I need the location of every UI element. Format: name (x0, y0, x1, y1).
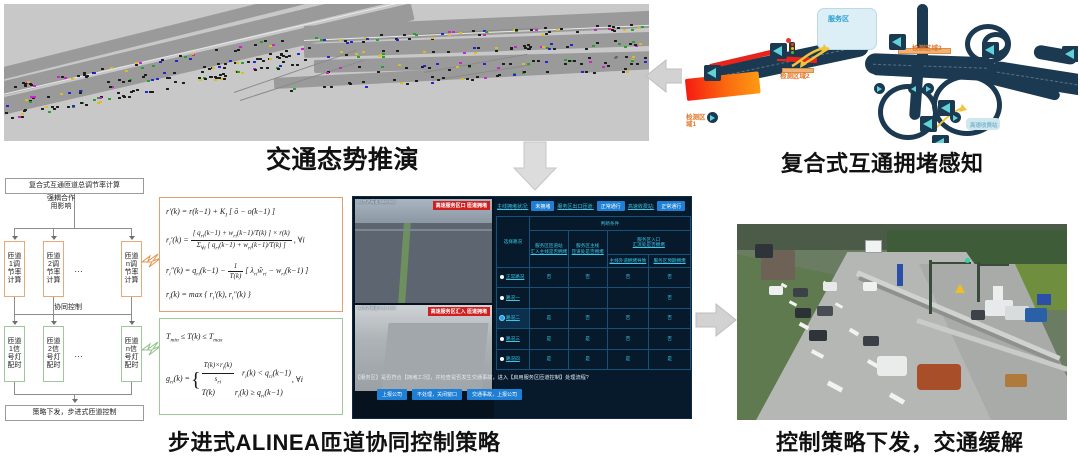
flow-footer-box: 策略下发，步进式匝道控制 (5, 405, 144, 421)
simulated-vehicle (624, 68, 627, 70)
simulated-vehicle (296, 64, 299, 66)
simulated-vehicle (260, 41, 263, 43)
simulated-vehicle (614, 40, 617, 42)
simulated-vehicle (11, 117, 14, 119)
flow-signal-box-1: 匝道1信号灯配时 (4, 326, 25, 382)
simulated-vehicle (266, 67, 269, 69)
simulated-vehicle (159, 61, 162, 63)
simulated-vehicle (5, 112, 8, 114)
simulated-vehicle (281, 40, 284, 42)
simulated-vehicle (280, 54, 283, 56)
simulated-vehicle (210, 76, 213, 78)
simulated-vehicle (626, 71, 629, 73)
simulated-vehicle (382, 53, 385, 55)
simulated-vehicle (128, 96, 131, 98)
simulated-vehicle (128, 80, 131, 82)
simulated-vehicle (548, 31, 551, 33)
simulated-vehicle (278, 57, 281, 59)
simulated-vehicle (33, 85, 36, 87)
simulated-vehicle (139, 62, 142, 64)
simulated-vehicle (622, 71, 625, 73)
table-col2-header: 服务区主线 匝道处是否拥堵 (568, 231, 607, 268)
simulated-vehicle (241, 72, 244, 74)
arrow-to-photo (694, 300, 738, 340)
traffic-signal-icon[interactable] (789, 42, 795, 55)
simulated-vehicle (398, 64, 401, 66)
simulated-vehicle (215, 77, 218, 79)
simulated-vehicle (415, 80, 418, 82)
simulated-vehicle (607, 65, 610, 67)
simulated-vehicle (47, 96, 50, 98)
simulated-vehicle (497, 67, 500, 69)
simulated-vehicle (117, 92, 120, 94)
cell-2-1: 否 (568, 308, 607, 328)
row-label-cell-1[interactable]: 路况一 (497, 288, 530, 308)
simulated-vehicle (436, 63, 439, 65)
simulated-vehicle (290, 90, 293, 92)
camera-icon-7[interactable] (920, 116, 937, 132)
simulated-vehicle (602, 66, 605, 68)
alinea-formula-box: r′(k) = r(k−1) + KI [ ō − o(k−1) ] ri′(k… (159, 197, 343, 312)
row-radio-0[interactable] (500, 275, 504, 279)
simulated-vehicle (514, 46, 517, 48)
simulated-vehicle (623, 29, 626, 31)
simulated-vehicle (382, 50, 385, 52)
simulated-vehicle (617, 27, 620, 29)
cell-4-2: 是 (607, 349, 649, 370)
simulated-vehicle (376, 39, 379, 41)
simulated-vehicle (631, 60, 634, 62)
simulated-vehicle (51, 106, 54, 108)
camera-column: G2京沪高速 K88+500 高速服务区口 匝道拥堵 G2京沪高速 K91+20… (353, 197, 494, 419)
row-radio-2[interactable] (500, 316, 504, 320)
simulated-vehicle (56, 106, 59, 108)
simulated-vehicle (634, 44, 637, 46)
status-value-2[interactable]: 正常通行 (657, 201, 685, 211)
simulated-vehicle (608, 28, 611, 30)
simulated-vehicle (264, 40, 267, 42)
simulated-vehicle (123, 96, 126, 98)
simulated-vehicle (339, 67, 342, 69)
simulated-vehicle (592, 45, 595, 47)
simulated-vehicle (537, 60, 540, 62)
simulated-vehicle (478, 34, 481, 36)
condition-table: 选择路况 判断条件 服务区匝道站 汇入主线是否拥堵 服务区主线 匝道处是否拥堵 … (496, 216, 691, 370)
simulated-vehicle (377, 71, 380, 73)
simulated-vehicle (403, 34, 406, 36)
simulated-vehicle (282, 61, 285, 63)
simulated-vehicle (80, 102, 83, 104)
simulated-vehicle (85, 76, 88, 78)
simulated-vehicle (528, 48, 531, 50)
simulated-vehicle (83, 74, 86, 76)
simulated-vehicle (293, 88, 296, 90)
green-time-formula-box: Tmin ≤ T(k) ≤ Tmax gri(k) = { T(k)×ri(k)… (159, 318, 343, 415)
status-label-1: 服务区出口匝道: (557, 203, 593, 210)
simulated-vehicle (366, 38, 369, 40)
table-subcol-b: 服务区预期拥堵 (649, 254, 691, 267)
simulated-vehicle (624, 46, 627, 48)
simulated-vehicle (214, 79, 217, 81)
flow-label-coupling: 强耦合作用影响 (47, 195, 75, 211)
simulated-vehicle (48, 111, 51, 113)
cell-0-0: 否 (529, 267, 568, 287)
simulated-vehicle (166, 88, 169, 90)
simulated-vehicle (483, 63, 486, 65)
cell-2-2: 否 (607, 308, 649, 328)
simulated-vehicle (29, 101, 32, 103)
simulated-vehicle (513, 74, 516, 76)
simulated-vehicle (556, 29, 559, 31)
simulated-vehicle (97, 102, 100, 104)
simulated-vehicle (474, 52, 477, 54)
camera-icon-5[interactable] (1062, 46, 1078, 62)
simulated-vehicle (241, 62, 244, 64)
flow-signal-box-2: 匝道2信号灯配时 (43, 326, 64, 382)
simulated-vehicle (101, 68, 104, 70)
simulated-vehicle (564, 63, 567, 65)
signal-lamp-red (786, 38, 791, 43)
direction-dot-1[interactable] (707, 112, 718, 123)
simulated-vehicle (545, 33, 548, 35)
simulated-vehicle (272, 44, 275, 46)
simulated-vehicle (546, 71, 549, 73)
simulated-vehicle (149, 91, 152, 93)
cell-4-0: 是 (529, 349, 568, 370)
simulated-vehicle (14, 86, 17, 88)
simulated-vehicle (254, 69, 257, 71)
simulated-vehicle (67, 106, 70, 108)
simulated-vehicle (21, 116, 24, 118)
row-label-cell-2[interactable]: 路况二 (497, 308, 530, 328)
simulated-vehicle (182, 82, 185, 84)
simulated-vehicle (629, 43, 632, 45)
formula-constraint: Tmin ≤ T(k) ≤ Tmax (166, 332, 336, 344)
congestion-band (685, 71, 761, 101)
simulated-vehicle (448, 31, 451, 33)
simulated-vehicle (541, 34, 544, 36)
simulated-vehicle (585, 71, 588, 73)
simulated-vehicle (362, 41, 365, 43)
simulated-vehicle (256, 58, 259, 60)
formula-eq-2: ri′(k) = [ qri(k−1) + wri(k−1)/T(k) ] × … (166, 229, 336, 253)
camera-icon-4[interactable] (982, 42, 999, 58)
simulated-vehicle (24, 85, 27, 87)
simulated-vehicle (237, 49, 240, 51)
simulated-vehicle (191, 53, 194, 55)
service-area-label: 服务区 (828, 14, 849, 24)
status-label-0: 主线拥堵状况: (497, 203, 528, 210)
simulated-vehicle (447, 51, 450, 53)
simulated-vehicle (132, 90, 135, 92)
simulated-vehicle (594, 29, 597, 31)
simulated-vehicle (382, 56, 385, 58)
simulated-vehicle (471, 79, 474, 81)
simulated-vehicle (461, 78, 464, 80)
simulated-vehicle (156, 78, 159, 80)
caption-top-left: 交通态势推演 (266, 140, 419, 176)
simulated-vehicle (152, 65, 155, 67)
simulated-vehicle (393, 79, 396, 81)
simulated-vehicle (573, 60, 576, 62)
decision-prompt: 【服务区】是否符合【拥堵工况】，并检查是否发生交通事故，进入【启用服务区匝道控制… (355, 375, 691, 382)
camera-feed-1[interactable]: G2京沪高速 K88+500 高速服务区口 匝道拥堵 (355, 199, 492, 303)
simulated-vehicle (85, 104, 88, 106)
arrow-down-to-dashboard (512, 140, 558, 192)
simulated-vehicle (29, 83, 32, 85)
table-col0-header: 选择路况 (497, 217, 530, 268)
table-row[interactable]: 正常路况 否 否 否 否 (497, 267, 691, 287)
simulated-vehicle (173, 72, 176, 74)
formula-eq-4: ri(k) = max { ri′(k), ri″(k) } (166, 290, 336, 302)
dismiss-button[interactable]: 不处理，关闭窗口 (412, 389, 462, 400)
simulated-vehicle (199, 79, 202, 81)
simulated-vehicle (548, 48, 551, 50)
simulated-vehicle (291, 64, 294, 66)
table-group-header: 判断条件 (529, 217, 690, 231)
camera-stamp-2: G2京沪高速 K91+200 (357, 306, 396, 311)
simulated-vehicle (576, 31, 579, 33)
simulated-vehicle (641, 26, 644, 28)
simulated-vehicle (24, 83, 27, 85)
formula-eq-3: ri″(k) = qri(k−1) − 1T(k) [ λriŵri − wri… (166, 262, 336, 281)
simulated-vehicle (527, 63, 530, 65)
simulated-vehicle (532, 60, 535, 62)
accident-report-button[interactable]: 交通事故，上报公司 (467, 389, 522, 400)
status-bar: 主线拥堵状况: 未拥堵 服务区出口匝道: 正常通行 高速收费站: 正常通行 (494, 197, 692, 215)
cell-2-3: 否 (649, 308, 691, 328)
simulated-vehicle (441, 33, 444, 35)
simulated-vehicle (145, 91, 148, 93)
row-label-cell-3[interactable]: 路况三 (497, 329, 530, 349)
simulated-vehicle (135, 64, 138, 66)
cell-1-3: 否 (649, 288, 691, 308)
formula-eq-1: r′(k) = r(k−1) + KI [ ō − o(k−1) ] (166, 207, 336, 219)
flow-rate-ellipsis: … (74, 264, 83, 274)
table-row[interactable]: 路况一 否 (497, 288, 691, 308)
formula-piecewise: gri(k) = { T(k)×ri(k)sri ri(k) < qri(k−1… (166, 360, 336, 402)
simulated-vehicle (483, 34, 486, 36)
simulated-vehicle (269, 53, 272, 55)
direction-dot-3[interactable] (908, 83, 919, 94)
simulated-vehicle (212, 67, 215, 69)
simulated-vehicle (323, 86, 326, 88)
simulated-vehicle (223, 67, 226, 69)
simulated-vehicle (60, 93, 63, 95)
simulated-vehicle (448, 69, 451, 71)
camera-icon-2[interactable] (770, 43, 787, 59)
camera-banner-1: 高速服务区口 匝道拥堵 (433, 201, 490, 210)
simulated-vehicle (224, 63, 227, 65)
cell-3-2: 否 (607, 329, 649, 349)
simulated-vehicle (405, 67, 408, 69)
simulated-vehicle (277, 68, 280, 70)
simulated-vehicle (355, 53, 358, 55)
simulated-vehicle (459, 32, 462, 34)
flow-bus-top (14, 228, 132, 229)
flow-rate-box-n: 匝道n调节率计算 (121, 241, 142, 297)
flow-root-box: 复合式互通匝道总调节率计算 (5, 178, 144, 194)
simulated-vehicle (79, 92, 82, 94)
simulated-vehicle (456, 66, 459, 68)
simulated-vehicle (254, 44, 257, 46)
row-radio-3[interactable] (500, 337, 504, 341)
cell-2-0: 是 (529, 308, 568, 328)
simulated-vehicle (219, 74, 222, 76)
cell-3-1: 是 (568, 329, 607, 349)
simulated-vehicle (122, 81, 125, 83)
camera-icon-1[interactable] (704, 65, 721, 81)
simulated-vehicle (99, 97, 102, 99)
simulated-vehicle (378, 55, 381, 57)
flow-signal-ellipsis: … (74, 349, 83, 359)
simulated-vehicle (357, 56, 360, 58)
simulated-vehicle (93, 72, 96, 74)
simulated-vehicle (348, 82, 351, 84)
decision-support-dashboard[interactable]: G2京沪高速 K88+500 高速服务区口 匝道拥堵 G2京沪高速 K91+20… (352, 196, 692, 419)
simulated-vehicle (64, 77, 67, 79)
simulated-vehicle (41, 108, 44, 110)
simulated-vehicle (118, 79, 121, 81)
camera-icon-8[interactable] (932, 135, 949, 143)
simulated-vehicle (362, 81, 365, 83)
simulated-vehicle (502, 63, 505, 65)
simulated-vehicle (161, 59, 164, 61)
simulated-vehicle (260, 67, 263, 69)
simulated-vehicle (459, 62, 462, 64)
camera-icon-3[interactable] (889, 34, 906, 50)
direction-dot-4[interactable] (923, 83, 934, 94)
simulated-vehicle (596, 42, 599, 44)
simulated-vehicle (431, 82, 434, 84)
simulated-vehicle (495, 47, 498, 49)
simulated-vehicle (542, 46, 545, 48)
row-label-cell-0[interactable]: 正常路况 (497, 267, 530, 287)
status-label-2: 高速收费站: (628, 203, 654, 210)
flow-rate-box-2: 匝道2调节率计算 (43, 241, 64, 297)
simulated-vehicle (535, 29, 538, 31)
simulated-vehicle (288, 55, 291, 57)
simulated-vehicle (174, 81, 177, 83)
simulated-vehicle (201, 71, 204, 73)
status-value-0[interactable]: 未拥堵 (531, 201, 554, 211)
simulated-vehicle (247, 61, 250, 63)
figure-root: null 服务区 高 (0, 0, 1080, 467)
simulated-vehicle (618, 43, 621, 45)
caption-top-right: 复合式互通拥堵感知 (781, 146, 984, 178)
simulated-vehicle (612, 26, 615, 28)
table-row[interactable]: 路况三 是 是 否 否 (497, 329, 691, 349)
simulated-vehicle (326, 72, 329, 74)
flow-rate-box-1: 匝道1调节率计算 (4, 241, 25, 297)
table-col3-header: 服务区入口 汇流处是否拥堵 (607, 231, 690, 255)
simulated-vehicle (545, 61, 548, 63)
simulated-vehicle (553, 48, 556, 50)
simulated-vehicle (604, 62, 607, 64)
table-row[interactable]: 路况四 是 是 是 是 (497, 349, 691, 370)
simulated-vehicle (237, 71, 240, 73)
simulated-vehicle (135, 62, 138, 64)
simulated-vehicle (208, 68, 211, 70)
microsimulation-panel: null (4, 4, 649, 141)
simulated-vehicle (596, 25, 599, 27)
control-flowchart: 复合式互通匝道总调节率计算 强耦合作用影响 匝道1调节率计算 匝道2调节率计算 … (2, 178, 154, 428)
simulated-vehicle (468, 65, 471, 67)
caption-bottom-left: 步进式ALINEA匝道协同控制策略 (168, 425, 500, 457)
simulated-vehicle (136, 89, 139, 91)
simulated-vehicle (175, 60, 178, 62)
simulated-vehicle (498, 74, 501, 76)
simulated-vehicle (432, 51, 435, 53)
cell-4-3: 是 (649, 349, 691, 370)
detection-zone-label-2: 检测区域2 (780, 70, 810, 80)
simulated-vehicle (279, 65, 282, 67)
simulated-vehicle (304, 59, 307, 61)
simulated-vehicle (166, 77, 169, 79)
simulated-vehicle (593, 72, 596, 74)
simulated-vehicle (21, 113, 24, 115)
simulated-vehicle (217, 63, 220, 65)
cell-1-0 (529, 288, 568, 308)
simulated-vehicle (53, 108, 56, 110)
interchange-map-panel[interactable]: 服务区 高速收费站 检测区域2 检测区域3 检测区域1 (682, 2, 1078, 143)
simulated-vehicle (109, 86, 112, 88)
simulated-vehicle (93, 99, 96, 101)
simulated-vehicle (581, 71, 584, 73)
simulated-vehicle (108, 98, 111, 100)
simulated-vehicle (523, 71, 526, 73)
simulated-vehicle (484, 77, 487, 79)
direction-dot-5[interactable] (950, 112, 961, 123)
simulated-vehicle (580, 63, 583, 65)
cell-0-3: 否 (649, 267, 691, 287)
flow-label-coordination: 协同控制 (54, 304, 82, 312)
simulated-vehicle (330, 86, 333, 88)
simulated-vehicle (327, 56, 330, 58)
simulated-vehicle (218, 66, 221, 68)
camera-stamp-1: G2京沪高速 K88+500 (357, 200, 396, 205)
row-radio-1[interactable] (500, 296, 504, 300)
row-label-cell-4[interactable]: 路况四 (497, 349, 530, 370)
simulated-vehicle (608, 25, 611, 27)
simulated-vehicle (476, 76, 479, 78)
simulated-vehicle (428, 67, 431, 69)
simulated-vehicle (297, 53, 300, 55)
status-value-1[interactable]: 正常通行 (597, 201, 625, 211)
row-radio-4[interactable] (500, 357, 504, 361)
simulated-vehicle (86, 75, 89, 77)
toll-station-label: 高速收费站 (970, 121, 998, 129)
cell-0-1: 否 (568, 267, 607, 287)
simulated-vehicle (463, 52, 466, 54)
flow-bus-mid (14, 314, 132, 315)
simulated-vehicle (485, 31, 488, 33)
report-company-button[interactable]: 上报公司 (377, 389, 407, 400)
ramp-flow-arrow-2 (799, 46, 833, 68)
simulated-vehicle (510, 47, 513, 49)
simulated-vehicle (308, 47, 311, 49)
simulated-vehicle (631, 29, 634, 31)
simulated-vehicle (236, 62, 239, 64)
direction-dot-2[interactable] (874, 83, 885, 94)
table-row[interactable]: 路况二 是 否 否 否 (497, 308, 691, 328)
simulated-vehicle (614, 57, 617, 59)
simulated-vehicle (45, 106, 48, 108)
simulated-vehicle (141, 67, 144, 69)
simulated-vehicle (224, 75, 227, 77)
simulated-vehicle (269, 45, 272, 47)
detection-zone-label-3: 检测区域3 (912, 42, 942, 52)
